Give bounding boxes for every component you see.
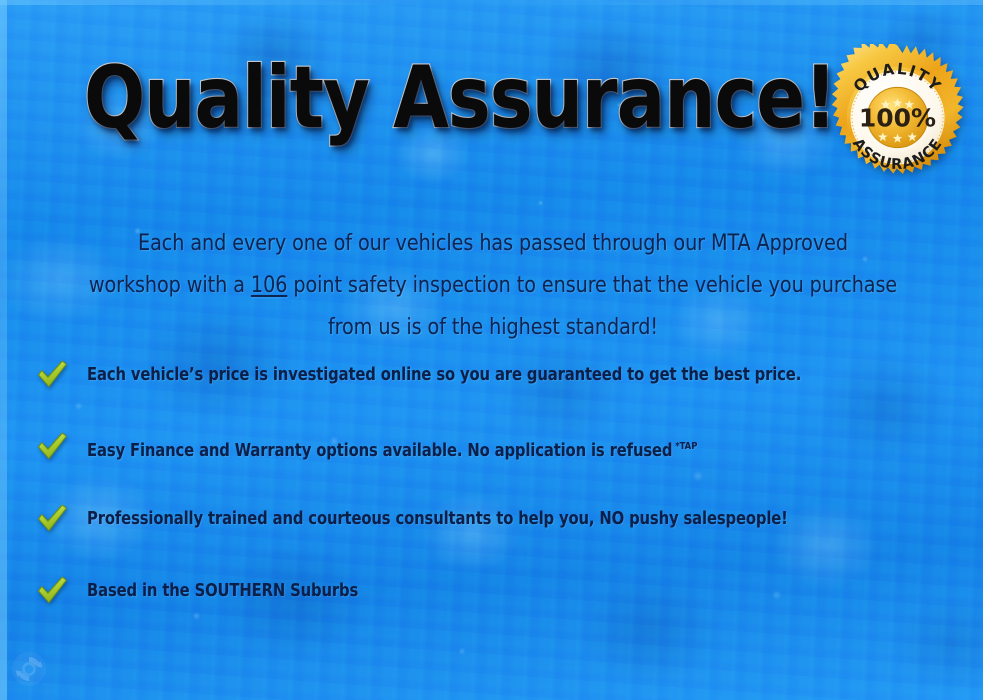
terms-apply-note: *TAP xyxy=(675,441,697,452)
paragraph-line-1: Each and every one of our vehicles has p… xyxy=(138,230,848,256)
quality-seal-badge: 100% QUALITY ASSURANCE xyxy=(824,44,971,191)
green-check-icon xyxy=(34,502,70,536)
list-item: Each vehicle’s price is investigated onl… xyxy=(30,356,950,428)
list-item-label: Professionally trained and courteous con… xyxy=(87,500,788,530)
intro-paragraph: Each and every one of our vehicles has p… xyxy=(72,222,914,348)
rotate-arrows-icon xyxy=(9,649,49,689)
background-top-edge-strip xyxy=(0,0,983,5)
feature-list: Each vehicle’s price is investigated onl… xyxy=(30,356,950,644)
background-left-edge-strip xyxy=(0,0,7,700)
list-item-label: Based in the SOUTHERN Suburbs xyxy=(87,572,358,602)
paragraph-line-2-before: workshop with a xyxy=(89,272,251,298)
list-item: Professionally trained and courteous con… xyxy=(30,500,950,572)
paragraph-line-2-after: point safety inspection to ensure that t… xyxy=(287,272,897,298)
page-title: Quality Assurance! xyxy=(84,55,836,141)
list-item: Easy Finance and Warranty options availa… xyxy=(30,428,950,500)
list-item: Based in the SOUTHERN Suburbs xyxy=(30,572,950,644)
list-item-label: Each vehicle’s price is investigated onl… xyxy=(87,356,801,386)
quality-assurance-banner: Quality Assurance! xyxy=(0,0,983,700)
green-check-icon xyxy=(34,430,70,464)
inspection-point-count: 106 xyxy=(251,272,287,298)
paragraph-line-3: from us is of the highest standard! xyxy=(328,314,658,340)
green-check-icon xyxy=(34,358,70,392)
green-check-icon xyxy=(34,574,70,608)
list-item-label: Easy Finance and Warranty options availa… xyxy=(87,428,697,462)
seal-center-text: 100% xyxy=(859,103,936,132)
